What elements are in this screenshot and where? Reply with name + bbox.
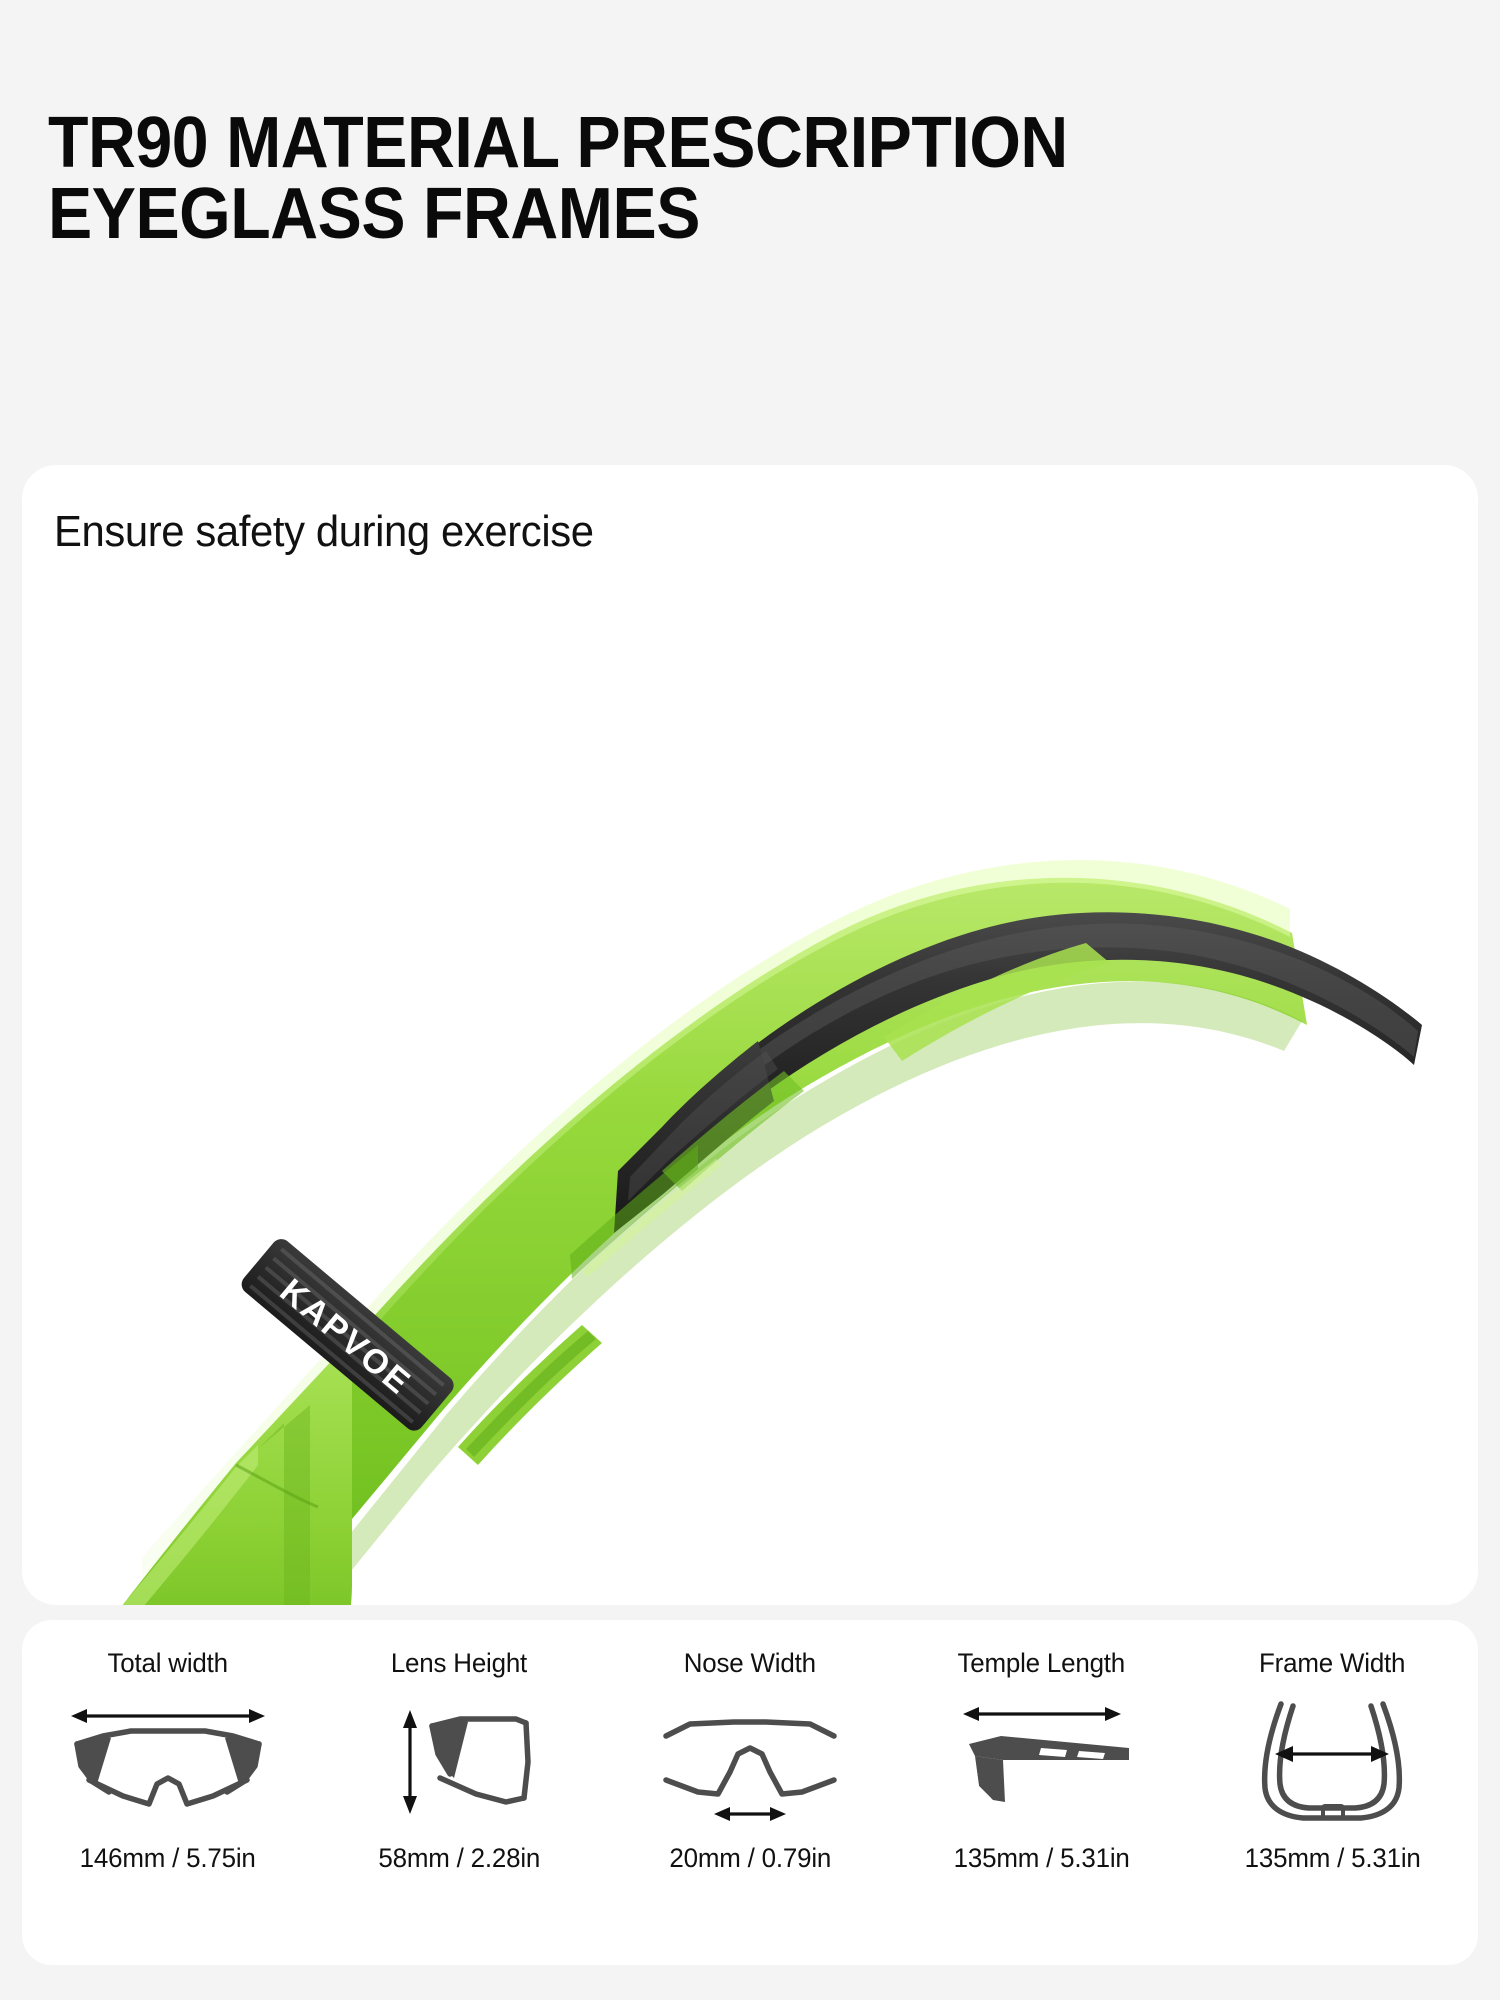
temple-arrow-head-left [963,1707,979,1721]
glasses-temple-length-icon [941,1692,1141,1832]
lens-right-edge [524,1723,528,1798]
spec-column-temple-length: Temple Length 135mm / 5.31in [896,1620,1187,1965]
spec-figure-temple-length [896,1687,1187,1837]
glasses-lens-height-icon [384,1692,534,1832]
spec-value-nose-width: 20mm / 0.79in [669,1843,831,1874]
spec-column-frame-width: Frame Width 135mm / 5.31in [1187,1620,1478,1965]
nose-arrow-head-right [770,1807,786,1821]
spec-value-frame-width: 135mm / 5.31in [1244,1843,1420,1874]
spec-label-frame-width: Frame Width [1259,1648,1405,1679]
arrow-head-right [249,1709,265,1723]
product-image-temple-arm: KAPVOE [22,465,1478,1605]
temple-arrow-head-right [1105,1707,1121,1721]
temple-arm-side-profile [969,1736,1129,1760]
arrow-head-left [71,1709,87,1723]
page-title-line-1: TR90 MATERIAL PRESCRIPTION [48,108,1354,179]
lens-temple-block [432,1719,468,1778]
spec-label-lens-height: Lens Height [391,1648,527,1679]
right-temple-block [225,1736,259,1784]
lens-bottom-rim [440,1778,524,1802]
spec-value-lens-height: 58mm / 2.28in [378,1843,540,1874]
frame-top-view-inner [1280,1706,1385,1808]
specifications-card: Total width 146mm / 5.75in Lens [22,1620,1478,1965]
spec-label-nose-width: Nose Width [684,1648,816,1679]
spec-figure-total-width [22,1687,313,1837]
spec-column-total-width: Total width 146mm / 5.75in [22,1620,313,1965]
glasses-front-width-icon [63,1692,273,1832]
spec-figure-lens-height [313,1687,604,1837]
page-title: TR90 MATERIAL PRESCRIPTION EYEGLASS FRAM… [48,108,1468,249]
nose-pad-notch [1323,1806,1343,1818]
spec-label-temple-length: Temple Length [957,1648,1125,1679]
spec-value-temple-length: 135mm / 5.31in [953,1843,1129,1874]
left-temple-block [77,1736,111,1784]
spec-value-total-width: 146mm / 5.75in [80,1843,256,1874]
nose-top-rim [666,1722,834,1736]
arrow-head-top [403,1710,417,1728]
spec-figure-frame-width [1187,1687,1478,1837]
page-title-line-2: EYEGLASS FRAMES [48,179,1354,250]
hero-card: Ensure safety during exercise [22,465,1478,1605]
spec-label-total-width: Total width [107,1648,227,1679]
spec-column-lens-height: Lens Height 58mm / 2.28in [313,1620,604,1965]
spec-column-nose-width: Nose Width 20mm / 0.79in [604,1620,895,1965]
nose-arrow-head-left [714,1807,730,1821]
glasses-top-frame-width-icon [1247,1692,1417,1832]
spec-figure-nose-width [604,1687,895,1837]
frame-bottom-rim [89,1778,247,1804]
nose-bridge-arch [666,1748,834,1794]
glasses-nose-width-icon [660,1692,840,1832]
arrow-head-bottom [403,1796,417,1814]
